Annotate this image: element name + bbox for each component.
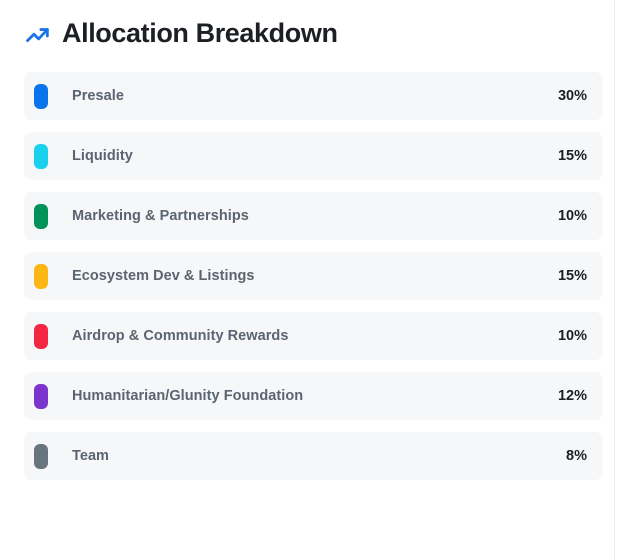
allocation-value: 12%	[558, 388, 587, 404]
list-item[interactable]: Team 8%	[24, 432, 603, 480]
list-item[interactable]: Airdrop & Community Rewards 10%	[24, 312, 603, 360]
allocation-value: 10%	[558, 208, 587, 224]
swatch-presale	[34, 84, 48, 109]
list-item[interactable]: Humanitarian/Glunity Foundation 12%	[24, 372, 603, 420]
allocation-label: Humanitarian/Glunity Foundation	[72, 388, 303, 404]
allocation-label: Marketing & Partnerships	[72, 208, 249, 224]
list-item[interactable]: Presale 30%	[24, 72, 603, 120]
swatch-airdrop	[34, 324, 48, 349]
card-header: Allocation Breakdown	[0, 0, 614, 54]
allocation-value: 15%	[558, 148, 587, 164]
allocation-breakdown-card: Allocation Breakdown Presale 30% Liquidi…	[0, 0, 615, 560]
allocation-label: Airdrop & Community Rewards	[72, 328, 288, 344]
swatch-liquidity	[34, 144, 48, 169]
list-item[interactable]: Ecosystem Dev & Listings 15%	[24, 252, 603, 300]
page-title: Allocation Breakdown	[62, 19, 338, 49]
swatch-ecosystem	[34, 264, 48, 289]
allocation-label: Team	[72, 448, 109, 464]
list-item[interactable]: Liquidity 15%	[24, 132, 603, 180]
allocation-value: 8%	[566, 448, 587, 464]
allocation-label: Ecosystem Dev & Listings	[72, 268, 255, 284]
allocation-list: Presale 30% Liquidity 15% Marketing & Pa…	[0, 54, 614, 480]
swatch-humanitarian	[34, 384, 48, 409]
trending-up-icon	[24, 22, 52, 50]
swatch-marketing	[34, 204, 48, 229]
allocation-label: Liquidity	[72, 148, 133, 164]
swatch-team	[34, 444, 48, 469]
allocation-value: 30%	[558, 88, 587, 104]
allocation-value: 15%	[558, 268, 587, 284]
allocation-value: 10%	[558, 328, 587, 344]
list-item[interactable]: Marketing & Partnerships 10%	[24, 192, 603, 240]
allocation-label: Presale	[72, 88, 124, 104]
